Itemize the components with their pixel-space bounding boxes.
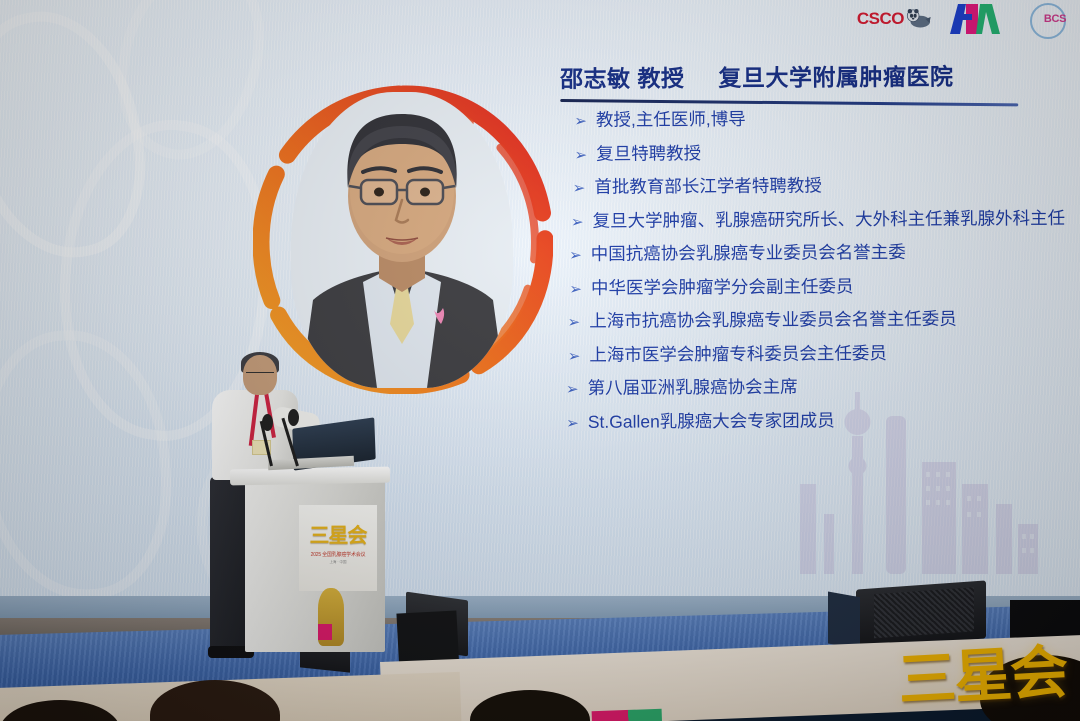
presenter-glasses-icon bbox=[246, 372, 274, 380]
bcs-logo: BCS bbox=[1028, 2, 1072, 36]
podium-sign: 三星会 2025 全国乳腺癌学术会议 上海 · 中国 bbox=[299, 505, 377, 591]
list-item-label: 中国抗癌协会乳腺癌专业委员会名誉主委 bbox=[591, 244, 906, 263]
list-item-label: 复旦特聘教授 bbox=[596, 145, 701, 163]
aca-logo-mark bbox=[948, 2, 1012, 34]
list-item: ➢上海市抗癌协会乳腺癌专业委员会名誉主任委员 bbox=[568, 310, 1080, 331]
list-item-label: 上海市抗癌协会乳腺癌专业委员会名誉主任委员 bbox=[589, 311, 957, 331]
podium-logo-text: 三星会 bbox=[310, 519, 367, 548]
microphone-head-icon bbox=[262, 414, 273, 431]
bullet-arrow-icon: ➢ bbox=[566, 382, 579, 397]
list-item: ➢复旦大学肿瘤、乳腺癌研究所长、大外科主任兼乳腺外科主任 bbox=[571, 209, 1080, 230]
bullet-arrow-icon: ➢ bbox=[569, 248, 582, 263]
gold-watermark-logo: 三星会 bbox=[896, 625, 1068, 718]
podium-top-surface bbox=[230, 467, 390, 486]
csco-logo: CSCO bbox=[857, 6, 932, 32]
slide-header: 邵志敏 教授 复旦大学附属肿瘤医院 bbox=[560, 57, 1080, 94]
logo-bar: CSCO bbox=[857, 2, 1072, 36]
slide-content: 邵志敏 教授 复旦大学附属肿瘤医院 ➢教授,主任医师,博导➢复旦特聘教授➢首批教… bbox=[560, 57, 1080, 447]
bullet-arrow-icon: ➢ bbox=[574, 114, 587, 129]
bullet-arrow-icon: ➢ bbox=[568, 315, 581, 330]
csco-logo-text: CSCO bbox=[857, 9, 904, 29]
list-item: ➢中国抗癌协会乳腺癌专业委员会名誉主委 bbox=[569, 243, 1080, 264]
list-item: ➢St.Gallen乳腺癌大会专家团成员 bbox=[566, 410, 1080, 431]
list-item-label: 教授,主任医师,博导 bbox=[596, 111, 746, 129]
bullet-arrow-icon: ➢ bbox=[569, 281, 582, 296]
header-underline bbox=[560, 99, 1018, 106]
bullet-arrow-icon: ➢ bbox=[568, 348, 581, 363]
monitor-side-panel bbox=[828, 592, 860, 650]
bullet-arrow-icon: ➢ bbox=[573, 181, 586, 196]
list-item-label: 上海市医学会肿瘤专科委员会主任委员 bbox=[589, 345, 887, 364]
portrait-photo bbox=[291, 92, 513, 388]
list-item-label: 中华医学会肿瘤学分会副主任委员 bbox=[591, 278, 854, 297]
list-item: ➢教授,主任医师,博导 bbox=[574, 109, 1080, 130]
speaker-portrait bbox=[253, 84, 553, 394]
conference-photo: CSCO bbox=[0, 0, 1080, 721]
credentials-list: ➢教授,主任医师,博导➢复旦特聘教授➢首批教育部长江学者特聘教授➢复旦大学肿瘤、… bbox=[560, 109, 1080, 431]
podium-subtitle: 2025 全国乳腺癌学术会议 bbox=[311, 551, 366, 558]
list-item-label: 第八届亚洲乳腺癌协会主席 bbox=[588, 379, 798, 398]
list-item-label: 首批教育部长江学者特聘教授 bbox=[594, 177, 822, 196]
projection-screen: CSCO bbox=[0, 0, 1080, 596]
podium-subtitle-secondary: 上海 · 中国 bbox=[329, 560, 346, 565]
panda-icon bbox=[906, 6, 932, 32]
list-item: ➢第八届亚洲乳腺癌协会主席 bbox=[566, 377, 1080, 398]
list-item-label: 复旦大学肿瘤、乳腺癌研究所长、大外科主任兼乳腺外科主任 bbox=[593, 209, 1066, 229]
speaker-affiliation: 复旦大学附属肿瘤医院 bbox=[718, 58, 953, 93]
list-item: ➢首批教育部长江学者特聘教授 bbox=[573, 176, 1080, 197]
bcs-logo-text: BCS bbox=[1044, 13, 1066, 25]
speaker-name: 邵志敏 教授 bbox=[560, 59, 685, 94]
portrait-image bbox=[291, 92, 513, 388]
terracotta-warrior-base bbox=[318, 624, 332, 640]
list-item: ➢中华医学会肿瘤学分会副主任委员 bbox=[569, 276, 1080, 297]
list-item-label: St.Gallen乳腺癌大会专家团成员 bbox=[588, 412, 835, 431]
aca-logo bbox=[948, 4, 1012, 34]
bullet-arrow-icon: ➢ bbox=[575, 147, 588, 162]
list-item: ➢上海市医学会肿瘤专科委员会主任委员 bbox=[568, 343, 1080, 364]
bullet-arrow-icon: ➢ bbox=[566, 415, 579, 430]
bullet-arrow-icon: ➢ bbox=[571, 214, 584, 229]
table-card bbox=[592, 709, 663, 721]
microphone-head-icon bbox=[288, 409, 299, 426]
list-item: ➢复旦特聘教授 bbox=[575, 142, 1080, 163]
